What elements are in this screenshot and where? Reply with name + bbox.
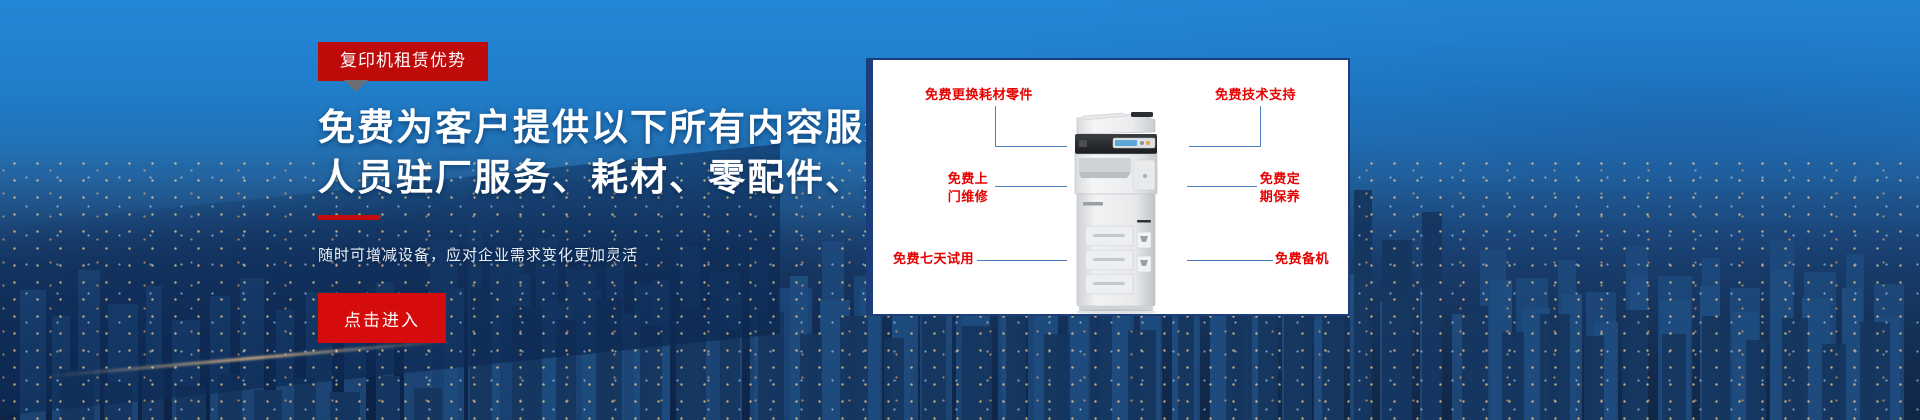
- leader-line-middle-left: [995, 186, 1067, 187]
- copier-printer-illustration: [1069, 102, 1161, 314]
- banner-text-column: 复印机租赁优势 免费为客户提供以下所有内容服务： 人员驻厂服务、耗材、零配件、人…: [318, 42, 878, 343]
- badge-pointer-triangle-icon: [344, 80, 368, 92]
- advantage-badge-label: 复印机租赁优势: [318, 42, 488, 81]
- label-free-technical-support: 免费技术支持: [1215, 86, 1296, 104]
- free-service-diagram-panel: 免费更换耗材零件 免费技术支持 免费上 门维修 免费定 期保养 免费七天试用: [866, 58, 1350, 316]
- banner-subtext: 随时可增减设备，应对企业需求变化更加灵活: [318, 244, 878, 265]
- leader-line-bottom-right: [1187, 260, 1273, 261]
- leader-line-top-left-vertical: [995, 106, 996, 146]
- leader-line-top-right-vertical: [1260, 106, 1261, 146]
- label-free-seven-day-trial: 免费七天试用: [893, 250, 974, 268]
- promo-banner: 复印机租赁优势 免费为客户提供以下所有内容服务： 人员驻厂服务、耗材、零配件、人…: [0, 0, 1920, 420]
- headline-line-1: 免费为客户提供以下所有内容服务：: [318, 107, 942, 148]
- label-free-regular-maintenance-line2: 期保养: [1260, 189, 1301, 204]
- label-free-onsite-repair-line1: 免费上: [948, 171, 989, 186]
- label-free-regular-maintenance-line1: 免费定: [1260, 171, 1301, 186]
- label-free-onsite-repair: 免费上 门维修: [947, 170, 989, 205]
- leader-line-bottom-left: [977, 260, 1067, 261]
- banner-headline: 免费为客户提供以下所有内容服务： 人员驻厂服务、耗材、零配件、人工费: [318, 103, 878, 203]
- click-to-enter-button[interactable]: 点击进入: [318, 293, 446, 343]
- leader-line-middle-right: [1187, 186, 1257, 187]
- leader-line-top-left-horizontal: [995, 146, 1067, 147]
- river-light-reflection: [41, 339, 460, 379]
- label-free-onsite-repair-line2: 门维修: [948, 189, 989, 204]
- headline-accent-bar: [318, 215, 380, 220]
- leader-line-top-right-horizontal: [1189, 146, 1261, 147]
- label-free-regular-maintenance: 免费定 期保养: [1259, 170, 1301, 205]
- headline-line-2: 人员驻厂服务、耗材、零配件、人工费: [318, 153, 878, 203]
- label-free-backup-machine: 免费备机: [1275, 250, 1329, 268]
- advantage-badge: 复印机租赁优势: [318, 42, 488, 81]
- label-free-consumable-parts-replacement: 免费更换耗材零件: [925, 86, 1033, 104]
